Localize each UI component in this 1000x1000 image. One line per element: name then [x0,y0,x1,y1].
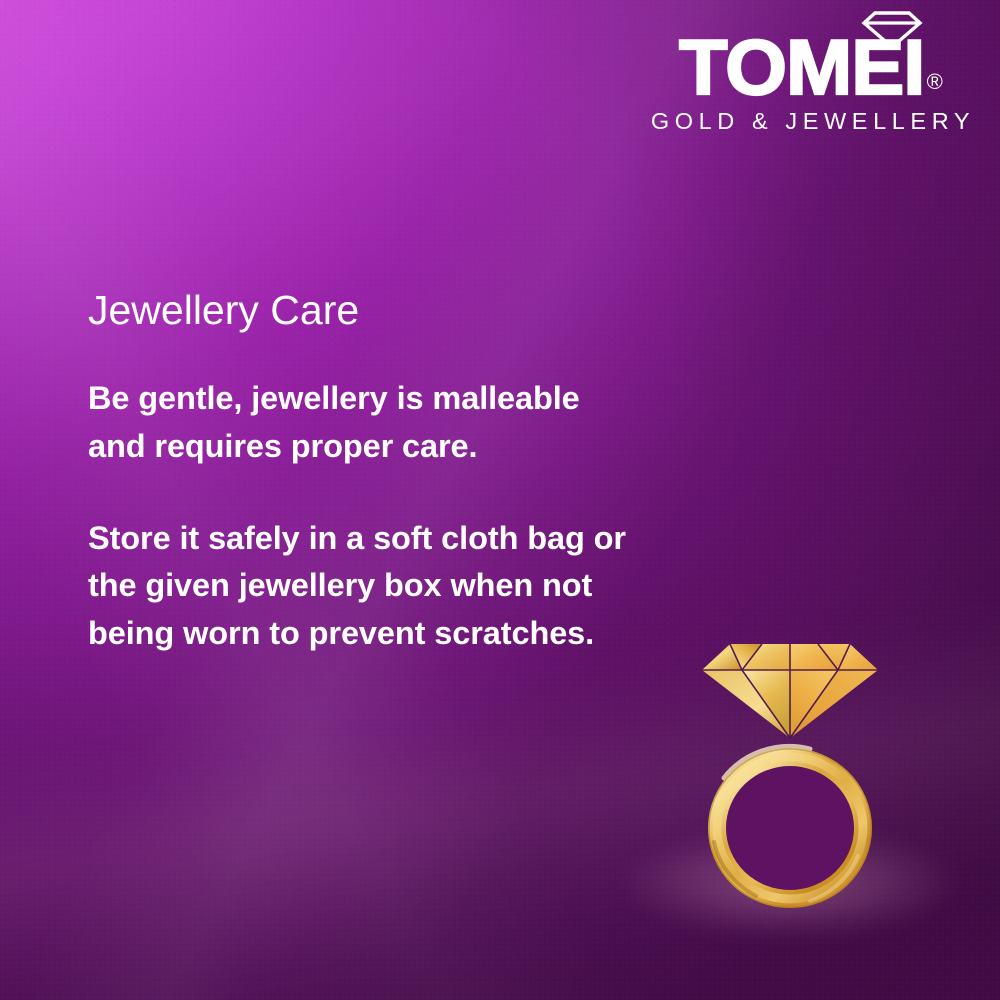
jewellery-care-card: TOMEI® GOLD & JEWELLERY Jewellery Care B… [0,0,1000,1000]
logo-tagline: GOLD & JEWELLERY [646,108,976,135]
copy-block: Jewellery Care Be gentle, jewellery is m… [88,288,648,658]
body-paragraph-2: Store it safely in a soft cloth bag or t… [88,515,628,658]
diamond-ring-illustration [690,628,890,918]
diamond-ring-svg [690,628,890,918]
logo-wordmark-row: TOMEI® [646,8,976,101]
logo-wordmark-text: TOMEI [679,34,924,101]
gold-diamond-icon [702,644,878,738]
registered-trademark-icon: ® [927,69,943,95]
tomei-logo: TOMEI® GOLD & JEWELLERY [646,8,976,135]
page-title: Jewellery Care [88,288,648,333]
gold-ring-icon [708,746,872,908]
body-paragraph-1: Be gentle, jewellery is malleable and re… [88,375,628,471]
